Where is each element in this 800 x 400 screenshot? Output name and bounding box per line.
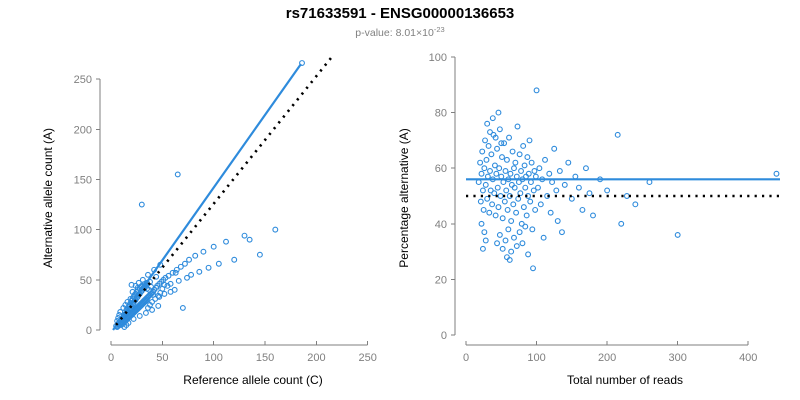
left-x-tick-5: 250 bbox=[359, 352, 377, 364]
left-x-tick-2: 100 bbox=[205, 352, 223, 364]
subtitle-exponent: -23 bbox=[434, 25, 445, 34]
right-x-tick-2: 200 bbox=[598, 352, 616, 364]
left-y-tick-3: 150 bbox=[74, 174, 92, 186]
subtitle-prefix: p-value: 8.01 bbox=[355, 27, 416, 39]
left-y-tick-4: 200 bbox=[74, 124, 92, 136]
figure-subtitle: p-value: 8.01×10-23 bbox=[355, 25, 444, 39]
left-y-tick-5: 250 bbox=[74, 74, 92, 86]
right-x-tick-0: 0 bbox=[463, 352, 469, 364]
left-y-tick-2: 100 bbox=[74, 225, 92, 237]
right-y-tick-5: 100 bbox=[429, 52, 447, 64]
allele-specific-expression-figure: rs71633591 - ENSG00000136653 p-value: 8.… bbox=[0, 0, 800, 400]
left-x-tick-3: 150 bbox=[256, 352, 274, 364]
subtitle-base: 10 bbox=[422, 27, 434, 39]
right-x-tick-1: 100 bbox=[527, 352, 545, 364]
figure-title: rs71633591 - ENSG00000136653 bbox=[286, 5, 515, 22]
left-y-axis-label: Alternative allele count (A) bbox=[41, 128, 55, 268]
left-y-tick-1: 50 bbox=[80, 275, 92, 287]
left-x-tick-1: 50 bbox=[156, 352, 168, 364]
right-y-tick-1: 20 bbox=[435, 274, 447, 286]
left-x-tick-0: 0 bbox=[108, 352, 114, 364]
right-y-tick-2: 40 bbox=[435, 219, 447, 231]
right-x-axis-label: Total number of reads bbox=[567, 373, 683, 387]
right-y-tick-0: 0 bbox=[441, 330, 447, 342]
left-y-tick-0: 0 bbox=[86, 325, 92, 337]
right-y-tick-4: 80 bbox=[435, 108, 447, 120]
right-y-axis-label: Percentage alternative (A) bbox=[397, 128, 411, 267]
left-x-axis-label: Reference allele count (C) bbox=[183, 373, 322, 387]
right-x-tick-3: 300 bbox=[669, 352, 687, 364]
left-x-tick-4: 200 bbox=[307, 352, 325, 364]
right-x-tick-4: 400 bbox=[739, 352, 757, 364]
right-y-tick-3: 60 bbox=[435, 163, 447, 175]
